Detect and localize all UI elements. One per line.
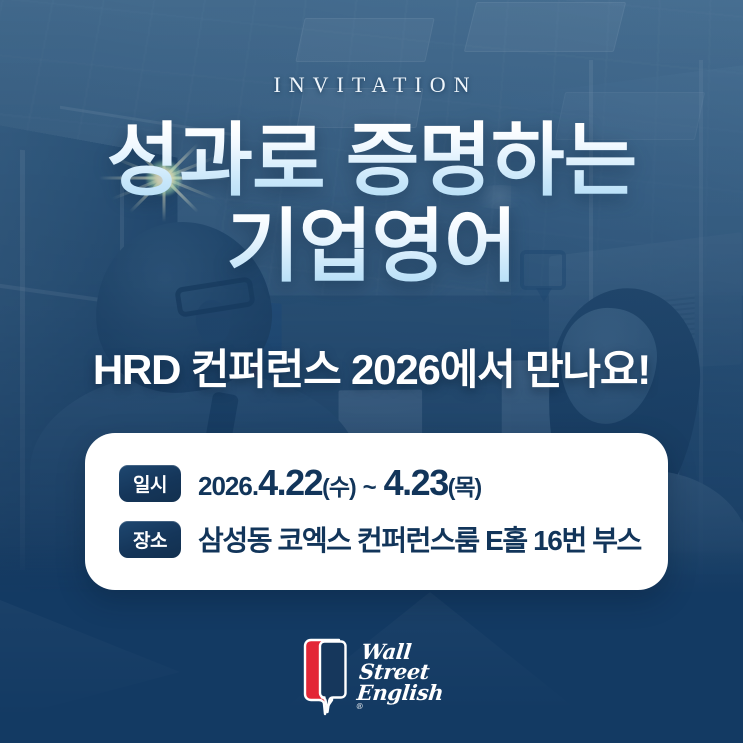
wall-street-english-logo: Wall Street English® (0, 638, 743, 716)
logo-word-english-wrap: English® (355, 683, 444, 711)
date-badge: 일시 (119, 465, 181, 502)
venue-value-wrap: 삼성동 코엑스 컨퍼런스룸 E홀 16번 부스 (198, 519, 641, 559)
headline: 성과로 증명하는 기업영어 (0, 118, 743, 289)
subheadline: HRD 컨퍼런스 2026에서 만나요! (0, 336, 743, 397)
invitation-poster: INVITATION 성과로 증명하는 기업영어 HRD 컨퍼런스 2026에서… (0, 0, 743, 743)
info-row-date: 일시 2026. 4.22 (수) ~ 4.23 (목) (119, 455, 668, 511)
venue-badge: 장소 (119, 521, 181, 558)
info-row-venue: 장소 삼성동 코엑스 컨퍼런스룸 E홀 16번 부스 (119, 511, 668, 567)
speech-bubble-book-icon (298, 638, 350, 716)
eyebrow-label: INVITATION (0, 72, 743, 98)
date-end-weekday: (목) (448, 468, 481, 502)
date-start-day: 4.22 (258, 462, 322, 504)
date-end-day: 4.23 (384, 462, 448, 504)
venue-value: 삼성동 코엑스 컨퍼런스룸 E홀 16번 부스 (198, 519, 641, 559)
headline-line-1: 성과로 증명하는 (0, 118, 743, 204)
date-value: 2026. 4.22 (수) ~ 4.23 (목) (198, 462, 481, 504)
date-year: 2026. (198, 471, 258, 502)
event-info-card: 일시 2026. 4.22 (수) ~ 4.23 (목) 장소 삼성동 코엑스 … (85, 433, 668, 590)
headline-line-2: 기업영어 (0, 204, 743, 290)
date-separator: ~ (363, 474, 377, 502)
logo-wordmark: Wall Street English® (355, 638, 449, 711)
date-start-weekday: (수) (322, 468, 355, 502)
logo-word-english: English (356, 683, 444, 703)
